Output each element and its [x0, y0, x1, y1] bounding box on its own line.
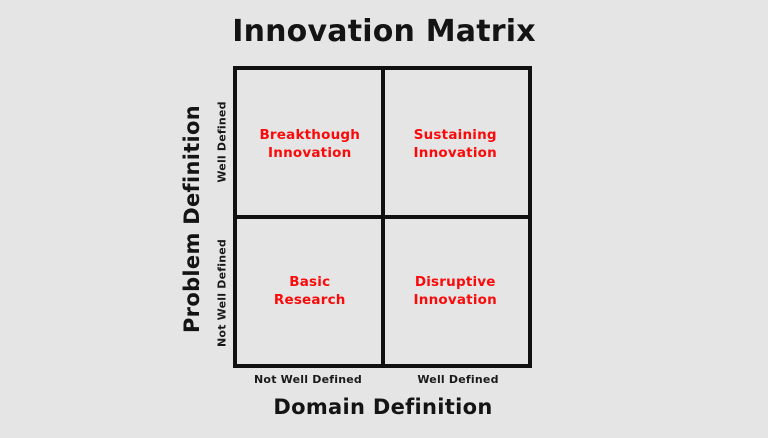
x-axis-tick-well-defined: Well Defined: [417, 373, 498, 386]
innovation-matrix-figure: Innovation Matrix Problem Definition Wel…: [0, 0, 768, 438]
quadrant-label-sustaining-innovation: Sustaining Innovation: [414, 126, 497, 162]
page-title: Innovation Matrix: [0, 14, 768, 50]
quadrant-top-left: Breakthough Innovation: [237, 70, 383, 217]
quadrant-top-right: Sustaining Innovation: [383, 70, 529, 217]
quadrant-bottom-right: Disruptive Innovation: [383, 217, 529, 364]
quadrant-label-breakthough-innovation: Breakthough Innovation: [259, 126, 360, 162]
quadrant-bottom-left: Basic Research: [237, 217, 383, 364]
y-axis-tick-not-well-defined: Not Well Defined: [216, 239, 229, 347]
matrix-grid: Breakthough Innovation Sustaining Innova…: [233, 66, 532, 368]
quadrant-label-basic-research: Basic Research: [274, 273, 346, 309]
y-axis-title: Problem Definition: [180, 105, 204, 333]
quadrant-label-disruptive-innovation: Disruptive Innovation: [414, 273, 497, 309]
y-axis-tick-well-defined: Well Defined: [216, 101, 229, 182]
x-axis-title: Domain Definition: [273, 395, 492, 419]
x-axis-tick-not-well-defined: Not Well Defined: [254, 373, 362, 386]
